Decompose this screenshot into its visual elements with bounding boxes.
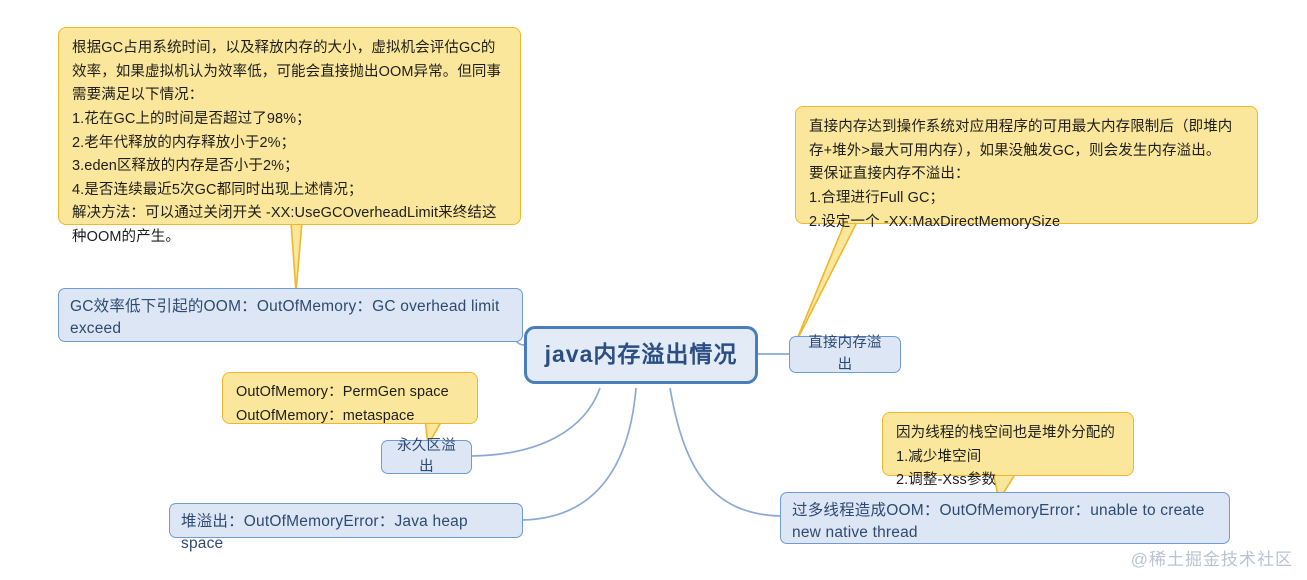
note-gc-overhead: 根据GC占用系统时间，以及释放内存的大小，虚拟机会评估GC的效率，如果虚拟机认为… [58, 27, 521, 225]
node-permgen[interactable]: 永久区溢出 [381, 440, 472, 474]
note-direct-memory: 直接内存达到操作系统对应用程序的可用最大内存限制后（即堆内存+堆外>最大可用内存… [795, 106, 1258, 224]
node-too-many-threads[interactable]: 过多线程造成OOM：OutOfMemoryError：unable to cre… [780, 492, 1230, 544]
node-center-java-oom[interactable]: java内存溢出情况 [524, 326, 758, 384]
note-threads: 因为线程的栈空间也是堆外分配的 1.减少堆空间 2.调整-Xss参数 [882, 412, 1134, 476]
mindmap-canvas: 根据GC占用系统时间，以及释放内存的大小，虚拟机会评估GC的效率，如果虚拟机认为… [0, 0, 1307, 580]
tail-note-direct-memory [795, 222, 857, 344]
tail-note-gc-overhead [291, 222, 302, 292]
node-direct-memory[interactable]: 直接内存溢出 [789, 336, 901, 373]
watermark: @稀土掘金技术社区 [1131, 545, 1293, 570]
note-permgen: OutOfMemory：PermGen space OutOfMemory：me… [222, 372, 478, 424]
node-heap[interactable]: 堆溢出：OutOfMemoryError：Java heap space [169, 503, 523, 538]
node-gc-overhead[interactable]: GC效率低下引起的OOM：OutOfMemory：GC overhead lim… [58, 288, 523, 342]
